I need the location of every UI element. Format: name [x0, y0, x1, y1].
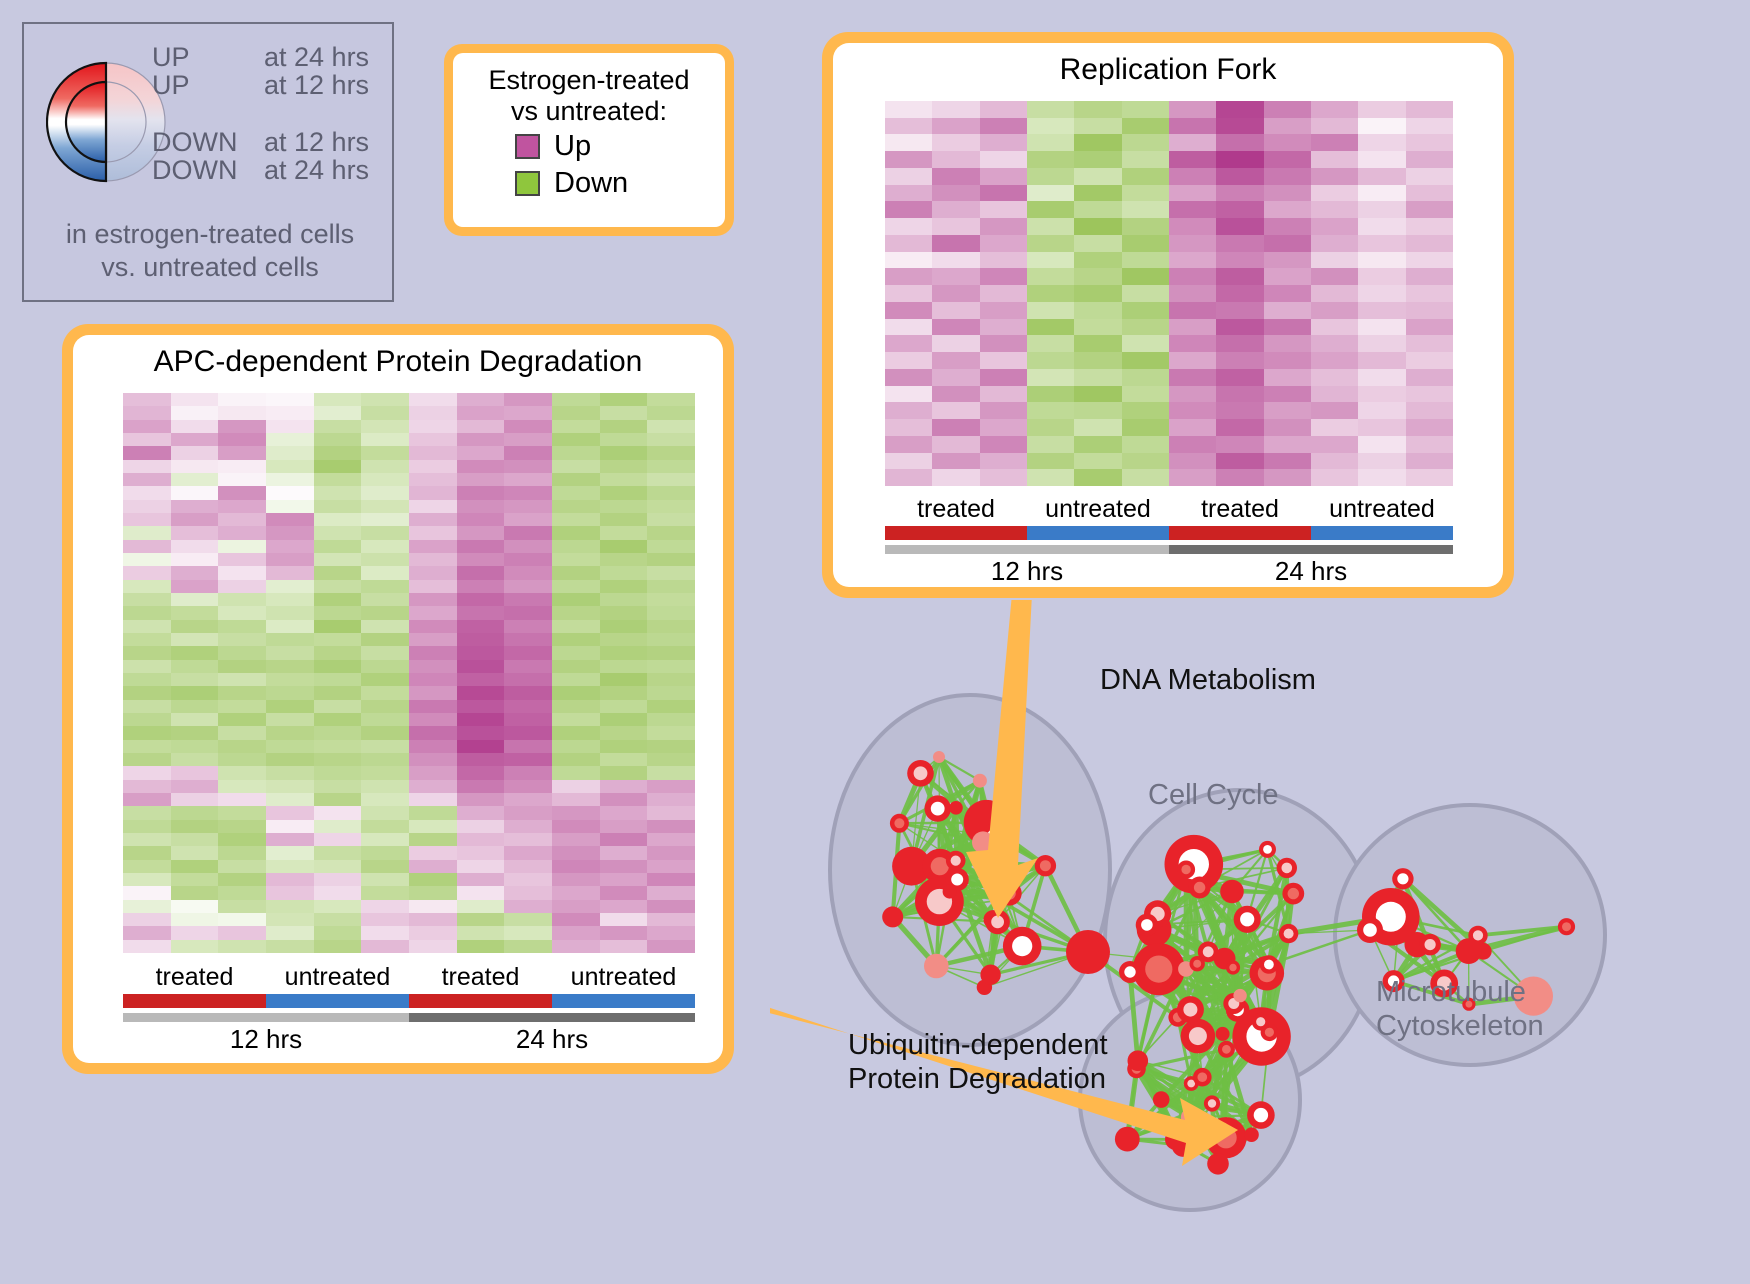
heatmap-cell — [409, 820, 457, 833]
heatmap-cell — [1216, 235, 1263, 252]
heatmap-cell — [1406, 335, 1453, 352]
heatmap-cell — [1311, 369, 1358, 386]
heatmap-cell — [123, 513, 171, 526]
heatmap-cell — [1406, 168, 1453, 185]
heatmap-cell — [123, 433, 171, 446]
heatmap-cell — [266, 593, 314, 606]
condition-bar-treated — [409, 994, 552, 1008]
heatmap-cell — [361, 940, 409, 953]
heatmap-cell — [171, 793, 219, 806]
heatmap-cell — [123, 726, 171, 739]
heatmap-cell — [647, 846, 695, 859]
heatmap-cell — [171, 700, 219, 713]
heatmap-cell — [361, 700, 409, 713]
heatmap-cell — [647, 780, 695, 793]
heatmap-cell — [266, 646, 314, 659]
heatmap-cell — [314, 460, 362, 473]
heatmap-cell — [314, 433, 362, 446]
heatmap-cell — [1027, 319, 1074, 336]
heatmap-cell — [980, 386, 1027, 403]
heatmap-cell — [123, 806, 171, 819]
heatmap-cell — [647, 673, 695, 686]
heatmap-apc-dependent — [123, 393, 695, 953]
heatmap-cell — [361, 446, 409, 459]
condition-bar-treated — [123, 994, 266, 1008]
heatmap-cell — [314, 406, 362, 419]
heatmap-cell — [314, 766, 362, 779]
heatmap-cell — [552, 833, 600, 846]
heatmap-cell — [600, 726, 648, 739]
heatmap-cell — [600, 793, 648, 806]
heatmap-cell — [1027, 335, 1074, 352]
heatmap-cell — [218, 940, 266, 953]
heatmap-cell — [361, 593, 409, 606]
heatmap-cell — [1311, 185, 1358, 202]
heatmap-cell — [266, 473, 314, 486]
heatmap-cell — [1169, 319, 1216, 336]
heatmap-cell — [1122, 285, 1169, 302]
heatmap-cell — [171, 673, 219, 686]
heatmap-cell — [1264, 185, 1311, 202]
heatmap-cell — [1169, 402, 1216, 419]
heatmap-cell — [266, 780, 314, 793]
heatmap-cell — [361, 420, 409, 433]
heatmap-cell — [123, 500, 171, 513]
heatmap-cell — [647, 433, 695, 446]
heatmap-cell — [552, 846, 600, 859]
heatmap-cell — [1122, 352, 1169, 369]
timepoint-colour-bar — [885, 545, 1453, 554]
panel-replication-fork-inner: Replication Fork treated untreated treat… — [833, 43, 1503, 587]
heatmap-cell — [1264, 319, 1311, 336]
heatmap-cell — [647, 793, 695, 806]
heatmap-cell — [1264, 168, 1311, 185]
heatmap-cell — [1074, 268, 1121, 285]
heatmap-cell — [361, 473, 409, 486]
heatmap-cell — [647, 713, 695, 726]
heatmap-cell — [504, 780, 552, 793]
heatmap-cell — [266, 926, 314, 939]
heatmap-cell — [171, 433, 219, 446]
heatmap-cell — [932, 469, 979, 486]
heatmap-cell — [314, 606, 362, 619]
heatmap-cell — [980, 352, 1027, 369]
heatmap-cell — [314, 820, 362, 833]
heatmap-cell — [171, 593, 219, 606]
heatmap-cell — [409, 420, 457, 433]
heatmap-cell — [600, 913, 648, 926]
heatmap-cell — [932, 436, 979, 453]
heatmap-cell — [266, 913, 314, 926]
heatmap-cell — [1122, 151, 1169, 168]
heatmap-cell — [600, 393, 648, 406]
heatmap-cell — [1216, 352, 1263, 369]
heatmap-cell — [361, 486, 409, 499]
heatmap-cell — [123, 473, 171, 486]
heatmap-cell — [266, 446, 314, 459]
heatmap-cell — [409, 566, 457, 579]
heatmap-cell — [1122, 185, 1169, 202]
heatmap-cell — [932, 319, 979, 336]
heatmap-cell — [600, 500, 648, 513]
heatmap-cell — [314, 846, 362, 859]
heatmap-cell — [1358, 369, 1405, 386]
heatmap-cell — [123, 393, 171, 406]
heatmap-cell — [932, 201, 979, 218]
heatmap-cell — [409, 500, 457, 513]
legend-spacer — [152, 99, 392, 129]
heatmap-cell — [1122, 168, 1169, 185]
heatmap-cell — [647, 393, 695, 406]
condition-bar-untreated — [552, 994, 695, 1008]
heatmap-cell — [314, 726, 362, 739]
heatmap-cell — [1358, 235, 1405, 252]
heatmap-cell — [980, 252, 1027, 269]
heatmap-cell — [552, 620, 600, 633]
heatmap-cell — [885, 168, 932, 185]
heatmap-cell — [123, 486, 171, 499]
heatmap-cell — [218, 646, 266, 659]
heatmap-cell — [504, 593, 552, 606]
heatmap-cell — [504, 433, 552, 446]
heatmap-cell — [266, 393, 314, 406]
heatmap-cell — [171, 513, 219, 526]
heatmap-cell — [266, 420, 314, 433]
heatmap-cell — [218, 726, 266, 739]
heatmap-cell — [361, 660, 409, 673]
heatmap-cell — [647, 566, 695, 579]
colour-wheel-graphic — [46, 42, 166, 212]
heatmap-cell — [932, 151, 979, 168]
heatmap-cell — [1027, 436, 1074, 453]
heatmap-cell — [980, 134, 1027, 151]
heatmap-cell — [1406, 151, 1453, 168]
heatmap-cell — [361, 526, 409, 539]
heatmap-cell — [647, 873, 695, 886]
heatmap-cell — [409, 513, 457, 526]
heatmap-cell — [980, 168, 1027, 185]
heatmap-cell — [457, 926, 505, 939]
heatmap-cell — [1358, 419, 1405, 436]
heatmap-cell — [361, 500, 409, 513]
heatmap-cell — [600, 713, 648, 726]
heatmap-cell — [314, 540, 362, 553]
heatmap-cell — [457, 513, 505, 526]
heatmap-cell — [885, 134, 932, 151]
heatmap-cell — [409, 473, 457, 486]
heatmap-cell — [552, 446, 600, 459]
heatmap-cell — [1027, 235, 1074, 252]
heatmap-cell — [1406, 235, 1453, 252]
heatmap-cell — [1074, 285, 1121, 302]
heatmap-cell — [457, 646, 505, 659]
heatmap-cell — [218, 513, 266, 526]
heatmap-cell — [314, 926, 362, 939]
heatmap-cell — [647, 833, 695, 846]
timepoint-bar-12hrs — [123, 1013, 409, 1022]
heatmap-cell — [1122, 402, 1169, 419]
heatmap-cell — [504, 553, 552, 566]
heatmap-cell — [171, 886, 219, 899]
heatmap-cell — [361, 846, 409, 859]
heatmap-cell — [1311, 118, 1358, 135]
heatmap-cell — [266, 940, 314, 953]
legend-item-down-label: Down — [554, 167, 628, 200]
heatmap-cell — [218, 740, 266, 753]
heatmap-cell — [123, 820, 171, 833]
heatmap-cell — [1216, 402, 1263, 419]
heatmap-cell — [171, 806, 219, 819]
heatmap-cell — [123, 860, 171, 873]
heatmap-cell — [600, 566, 648, 579]
heatmap-cell — [1358, 134, 1405, 151]
heatmap-cell — [932, 453, 979, 470]
heatmap-cell — [409, 713, 457, 726]
heatmap-cell — [1074, 168, 1121, 185]
heatmap-cell — [600, 766, 648, 779]
heatmap-cell — [457, 793, 505, 806]
heatmap-cell — [171, 473, 219, 486]
heatmap-cell — [1074, 101, 1121, 118]
heatmap-cell — [1406, 352, 1453, 369]
heatmap-cell — [647, 900, 695, 913]
heatmap-cell — [409, 580, 457, 593]
heatmap-cell — [361, 926, 409, 939]
heatmap-cell — [552, 580, 600, 593]
heatmap-cell — [123, 753, 171, 766]
cluster-label-ubiquitin: Ubiquitin-dependent Protein Degradation — [848, 1028, 1108, 1096]
heatmap-cell — [171, 406, 219, 419]
heatmap-cell — [1169, 185, 1216, 202]
heatmap-cell — [218, 793, 266, 806]
heatmap-cell — [218, 860, 266, 873]
heatmap-cell — [504, 753, 552, 766]
heatmap-cell — [171, 500, 219, 513]
heatmap-cell — [504, 740, 552, 753]
heatmap-cell — [552, 460, 600, 473]
heatmap-cell — [409, 926, 457, 939]
heatmap-cell — [123, 740, 171, 753]
heatmap-cell — [266, 406, 314, 419]
down-swatch-icon — [515, 171, 540, 196]
heatmap-cell — [647, 460, 695, 473]
heatmap-cell — [1074, 134, 1121, 151]
cluster-label-line-1: Ubiquitin-dependent — [848, 1028, 1108, 1062]
heatmap-cell — [647, 553, 695, 566]
heatmap-cell — [932, 101, 979, 118]
heatmap-cell — [218, 460, 266, 473]
heatmap-cell — [171, 780, 219, 793]
heatmap-cell — [1027, 151, 1074, 168]
heatmap-cell — [123, 940, 171, 953]
heatmap-cell — [266, 766, 314, 779]
condition-bar-treated — [1169, 526, 1311, 540]
colour-wheel-legend: UP at 24 hrs UP at 12 hrs DOWN at 12 hrs… — [22, 22, 394, 302]
heatmap-cell — [1122, 252, 1169, 269]
heatmap-cell — [171, 820, 219, 833]
heatmap-cell — [1358, 302, 1405, 319]
heatmap-cell — [932, 285, 979, 302]
heatmap-cell — [1027, 285, 1074, 302]
heatmap-cell — [600, 846, 648, 859]
heatmap-cell — [600, 513, 648, 526]
heatmap-cell — [600, 940, 648, 953]
cluster-label-cell-cycle: Cell Cycle — [1148, 778, 1279, 812]
heatmap-cell — [171, 446, 219, 459]
heatmap-cell — [1311, 302, 1358, 319]
heatmap-cell — [314, 860, 362, 873]
heatmap-cell — [123, 580, 171, 593]
condition-bar-untreated — [266, 994, 409, 1008]
heatmap-cell — [980, 319, 1027, 336]
heatmap-cell — [600, 820, 648, 833]
heatmap-cell — [980, 151, 1027, 168]
heatmap-cell — [1358, 319, 1405, 336]
heatmap-cell — [266, 660, 314, 673]
timepoint-colour-bar — [123, 1013, 695, 1022]
heatmap-cell — [218, 780, 266, 793]
heatmap-cell — [218, 500, 266, 513]
heatmap-cell — [1169, 118, 1216, 135]
heatmap-cell — [1122, 369, 1169, 386]
heatmap-cell — [647, 420, 695, 433]
heatmap-cell — [314, 833, 362, 846]
heatmap-cell — [361, 633, 409, 646]
heatmap-cell — [932, 252, 979, 269]
heatmap-cell — [1027, 302, 1074, 319]
heatmap-cell — [409, 900, 457, 913]
heatmap-cell — [457, 660, 505, 673]
heatmap-cell — [980, 436, 1027, 453]
heatmap-cell — [218, 566, 266, 579]
up-swatch-icon — [515, 134, 540, 159]
heatmap-cell — [600, 473, 648, 486]
condition-colour-bar — [885, 526, 1453, 540]
heatmap-cell — [1122, 101, 1169, 118]
heatmap-cell — [504, 846, 552, 859]
heatmap-cell — [1027, 252, 1074, 269]
heatmap-cell — [266, 820, 314, 833]
heatmap-cell — [266, 806, 314, 819]
heatmap-cell — [409, 913, 457, 926]
heatmap-cell — [552, 566, 600, 579]
up-down-legend-inner: Estrogen-treated vs untreated: Up Down — [453, 53, 725, 227]
heatmap-cell — [218, 580, 266, 593]
heatmap-cell — [1406, 134, 1453, 151]
heatmap-cell — [218, 900, 266, 913]
heatmap-cell — [457, 686, 505, 699]
heatmap-cell — [1122, 335, 1169, 352]
heatmap-cell — [457, 940, 505, 953]
heatmap-cell — [1027, 369, 1074, 386]
heatmap-cell — [647, 540, 695, 553]
heatmap-cell — [171, 873, 219, 886]
heatmap-cell — [552, 433, 600, 446]
heatmap-cell — [1216, 118, 1263, 135]
heatmap-cell — [1169, 453, 1216, 470]
colour-wheel-legend-rows: UP at 24 hrs UP at 12 hrs DOWN at 12 hrs… — [152, 44, 392, 184]
heatmap-cell — [361, 806, 409, 819]
heatmap-cell — [1074, 419, 1121, 436]
heatmap-cell — [457, 420, 505, 433]
heatmap-cell — [409, 780, 457, 793]
heatmap-cell — [457, 873, 505, 886]
heatmap-cell — [1074, 386, 1121, 403]
heatmap-cell — [552, 686, 600, 699]
heatmap-cell — [409, 486, 457, 499]
heatmap-cell — [171, 940, 219, 953]
heatmap-cell — [1169, 386, 1216, 403]
heatmap-cell — [1311, 319, 1358, 336]
heatmap-cell — [980, 268, 1027, 285]
heatmap-cell — [314, 620, 362, 633]
heatmap-cell — [885, 402, 932, 419]
heatmap-cell — [504, 700, 552, 713]
heatmap-cell — [218, 713, 266, 726]
heatmap-cell — [123, 926, 171, 939]
heatmap-cell — [1169, 302, 1216, 319]
legend-title-line-1: Estrogen-treated — [469, 65, 709, 96]
heatmap-cell — [409, 886, 457, 899]
heatmap-cell — [552, 806, 600, 819]
heatmap-cell — [885, 369, 932, 386]
heatmap-cell — [1311, 352, 1358, 369]
heatmap-cell — [504, 726, 552, 739]
heatmap-cell — [932, 402, 979, 419]
condition-bar-treated — [885, 526, 1027, 540]
heatmap-cell — [1216, 453, 1263, 470]
heatmap-cell — [457, 566, 505, 579]
heatmap-cell — [1311, 168, 1358, 185]
heatmap-cell — [504, 913, 552, 926]
heatmap-cell — [1406, 469, 1453, 486]
heatmap-cell — [504, 806, 552, 819]
heatmap-cell — [314, 780, 362, 793]
heatmap-cell — [314, 806, 362, 819]
up-down-legend-card: Estrogen-treated vs untreated: Up Down — [444, 44, 734, 236]
heatmap-cell — [1169, 151, 1216, 168]
heatmap-cell — [932, 134, 979, 151]
heatmap-cell — [123, 420, 171, 433]
heatmap-cell — [1027, 218, 1074, 235]
heatmap-cell — [361, 766, 409, 779]
heatmap-cell — [1358, 168, 1405, 185]
heatmap-cell — [885, 453, 932, 470]
heatmap-cell — [314, 673, 362, 686]
heatmap-cell — [218, 873, 266, 886]
heatmap-cell — [171, 926, 219, 939]
heatmap-cell — [1264, 252, 1311, 269]
heatmap-cell — [218, 606, 266, 619]
heatmap-cell — [218, 633, 266, 646]
heatmap-cell — [1027, 185, 1074, 202]
condition-label: untreated — [1311, 495, 1453, 524]
heatmap-cell — [457, 766, 505, 779]
heatmap-cell — [647, 473, 695, 486]
heatmap-cell — [361, 513, 409, 526]
heatmap-cell — [504, 833, 552, 846]
heatmap-cell — [361, 673, 409, 686]
heatmap-cell — [457, 673, 505, 686]
heatmap-cell — [457, 460, 505, 473]
legend-title-line-2: vs untreated: — [469, 96, 709, 127]
heatmap-cell — [885, 151, 932, 168]
heatmap-cell — [457, 900, 505, 913]
heatmap-cell — [504, 393, 552, 406]
heatmap-cell — [457, 620, 505, 633]
heatmap-cell — [266, 793, 314, 806]
heatmap-cell — [1264, 436, 1311, 453]
